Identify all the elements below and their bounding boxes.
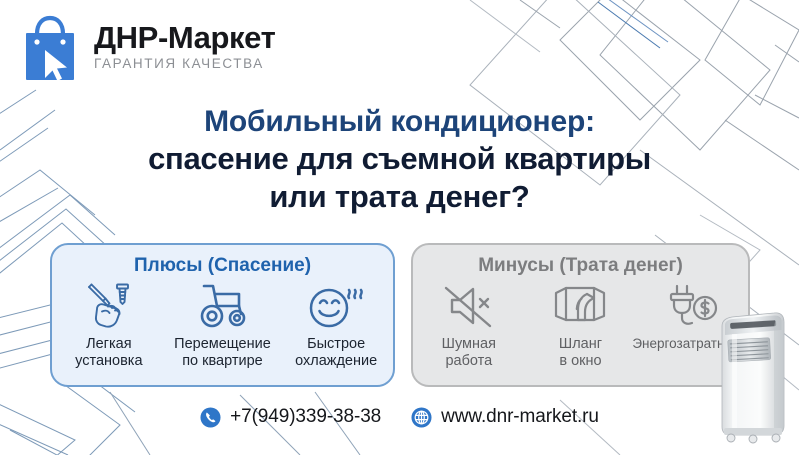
headline-line-2: спасение для съемной квартиры	[0, 140, 799, 178]
comparison-cards: Плюсы (Спасение)	[0, 243, 799, 391]
phone-number: +7(949)339-38-38	[230, 406, 381, 428]
headline-line-1: Мобильный кондиционер:	[0, 104, 799, 140]
brand-name: ДНР-Маркет	[94, 22, 275, 54]
footer-contacts: +7(949)339-38-38 www.dnr-market.ru	[0, 406, 799, 428]
globe-circle-icon	[411, 407, 432, 428]
website-contact[interactable]: www.dnr-market.ru	[411, 406, 599, 428]
cons-card-title: Минусы (Трата денег)	[413, 255, 748, 277]
cons-item-label: Шумная работа	[442, 336, 496, 370]
website-url: www.dnr-market.ru	[441, 406, 599, 428]
brand-tagline: ГАРАНТИЯ КАЧЕСТВА	[94, 57, 275, 72]
headline: Мобильный кондиционер: спасение для съем…	[0, 104, 799, 215]
pros-item-fast-cooling: Быстрое охлаждение	[280, 281, 393, 370]
headline-line-3: или трата денег?	[0, 178, 799, 216]
pros-item-label: Перемещение по квартире	[174, 336, 271, 370]
hand-screwdriver-screw-icon	[83, 281, 135, 331]
plug-dollar-icon	[663, 281, 721, 331]
phone-contact[interactable]: +7(949)339-38-38	[200, 406, 381, 428]
window-hose-icon	[553, 281, 607, 331]
shopping-bag-cursor-icon	[18, 12, 82, 82]
pros-item-mobility: Перемещение по квартире	[166, 281, 279, 370]
pros-card: Плюсы (Спасение)	[50, 243, 395, 387]
pros-item-label: Легкая установка	[75, 336, 142, 370]
cons-item-label: Шланг в окно	[559, 336, 602, 370]
cons-card: Минусы (Трата денег) Шумная работа	[411, 243, 750, 387]
pros-item-easy-install: Легкая установка	[53, 281, 166, 370]
cons-item-noise: Шумная работа	[414, 281, 525, 370]
pros-item-label: Быстрое охлаждение	[295, 336, 377, 370]
speaker-muted-x-icon	[442, 281, 496, 331]
trolley-cart-icon	[193, 281, 251, 331]
phone-circle-icon	[200, 407, 221, 428]
cons-item-hose: Шланг в окно	[525, 281, 636, 370]
infographic-banner: ДНР-Маркет ГАРАНТИЯ КАЧЕСТВА Мобильный к…	[0, 0, 799, 455]
pros-card-title: Плюсы (Спасение)	[52, 255, 393, 277]
brand-logo: ДНР-Маркет ГАРАНТИЯ КАЧЕСТВА	[18, 12, 275, 82]
smiling-face-heat-waves-icon	[307, 281, 365, 331]
